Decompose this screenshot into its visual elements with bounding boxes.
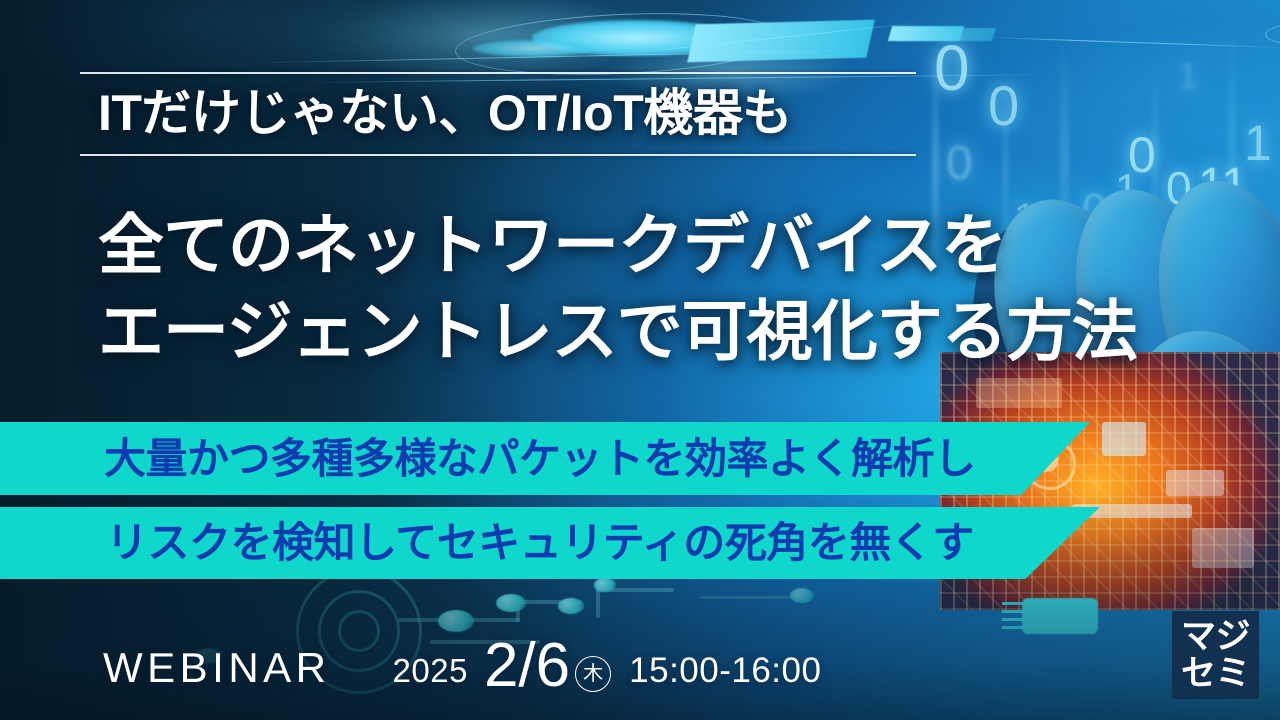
subtitle-band-2: リスクを検知してセキュリティの死角を無くす bbox=[0, 507, 1100, 579]
kicker-rule-bottom bbox=[80, 154, 916, 156]
subtitle-band-1-text: 大量かつ多種多様なパケットを効率よく解析し bbox=[0, 438, 976, 480]
headline-line-1: 全てのネットワークデバイスを bbox=[98, 203, 1137, 289]
event-day-of-week: 木 bbox=[575, 656, 611, 692]
page-title: 全てのネットワークデバイスを エージェントレスで可視化する方法 bbox=[98, 203, 1137, 375]
subtitle-band-2-text: リスクを検知してセキュリティの死角を無くす bbox=[0, 522, 974, 564]
logo-line-2: セミ bbox=[1181, 655, 1250, 692]
logo-line-1: マジ bbox=[1181, 618, 1250, 655]
event-time: 15:00-16:00 bbox=[629, 653, 821, 688]
event-month-day: 2/6 bbox=[484, 635, 570, 697]
webinar-label: WEBINAR bbox=[103, 647, 331, 689]
majisemi-logo: マジ セミ bbox=[1172, 611, 1259, 699]
kicker-text: ITだけじゃない、OT/IoT機器も bbox=[80, 74, 916, 154]
event-date-group: 2025 2/6 木 15:00-16:00 bbox=[393, 631, 822, 694]
event-year: 2025 bbox=[393, 654, 468, 687]
event-details: WEBINAR 2025 2/6 木 15:00-16:00 bbox=[103, 631, 821, 694]
headline-line-2: エージェントレスで可視化する方法 bbox=[98, 289, 1137, 375]
kicker-block: ITだけじゃない、OT/IoT機器も bbox=[80, 72, 916, 156]
webinar-banner: 0 0 0 0 1 0 11 1 1 0 0 1 1 1 0 1 bbox=[0, 0, 1280, 720]
subtitle-band-1: 大量かつ多種多様なパケットを効率よく解析し bbox=[0, 422, 1090, 495]
